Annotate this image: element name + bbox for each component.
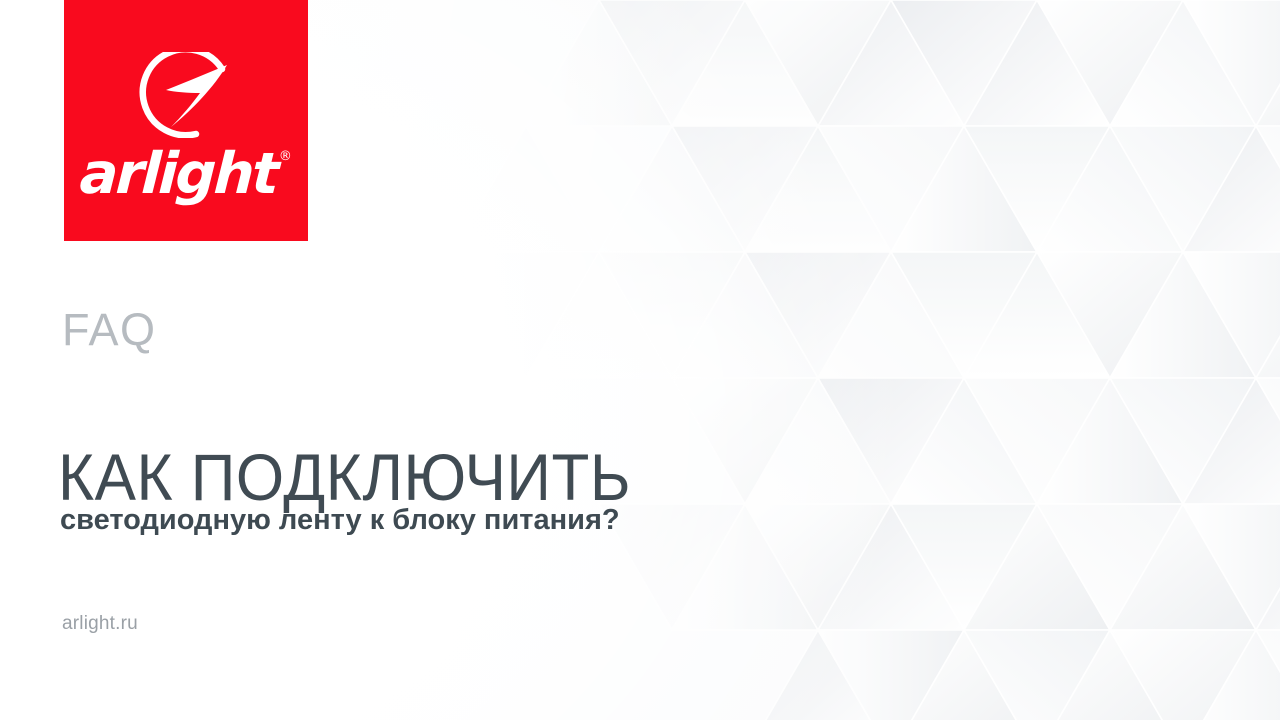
arlight-logo-tile: arlight ® [64, 0, 308, 241]
presentation-slide: arlight ® FAQ КАК ПОДКЛЮЧИТЬ светодиодну… [0, 0, 1280, 720]
arlight-wordmark: arlight [79, 146, 279, 203]
arlight-wordmark-row: arlight ® [64, 146, 308, 203]
registered-trademark-icon: ® [279, 150, 292, 163]
arlight-swoosh-icon [126, 52, 246, 138]
eyebrow-label: FAQ [62, 307, 157, 352]
page-subtitle: светодиодную ленту к блоку питания? [60, 502, 620, 538]
site-url-label: arlight.ru [62, 614, 138, 633]
